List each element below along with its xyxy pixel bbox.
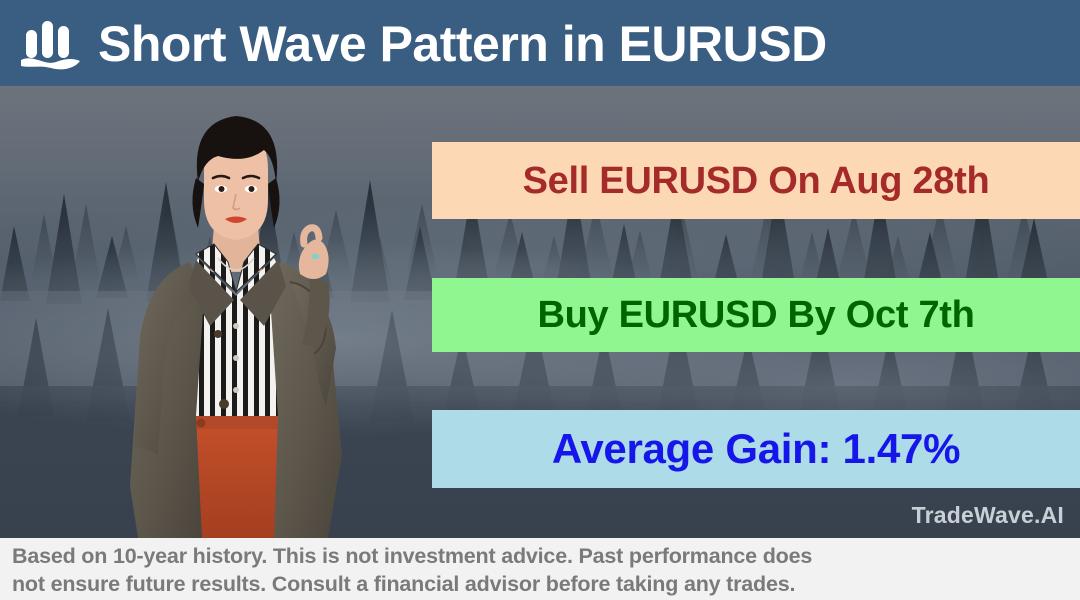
header-bar: Short Wave Pattern in EURUSD — [0, 0, 1080, 86]
businesswoman-photo — [78, 86, 408, 538]
callout-sell-signal: Sell EURUSD On Aug 28th — [432, 142, 1080, 219]
disclaimer-line-1: Based on 10-year history. This is not in… — [12, 543, 1070, 571]
page-title: Short Wave Pattern in EURUSD — [98, 19, 827, 69]
disclaimer-line-2: not ensure future results. Consult a fin… — [12, 571, 1070, 599]
callout-buy-signal: Buy EURUSD By Oct 7th — [432, 278, 1080, 352]
callout-gain-text: Average Gain: 1.47% — [552, 428, 960, 470]
callout-buy-text: Buy EURUSD By Oct 7th — [537, 296, 974, 334]
brand-watermark: TradeWave.AI — [912, 502, 1064, 529]
disclaimer-footer: Based on 10-year history. This is not in… — [0, 538, 1080, 600]
callout-sell-text: Sell EURUSD On Aug 28th — [523, 162, 990, 200]
callout-average-gain: Average Gain: 1.47% — [432, 410, 1080, 488]
wave-bars-logo-icon — [18, 14, 84, 74]
trade-signal-poster: Short Wave Pattern in EURUSD — [0, 0, 1080, 600]
